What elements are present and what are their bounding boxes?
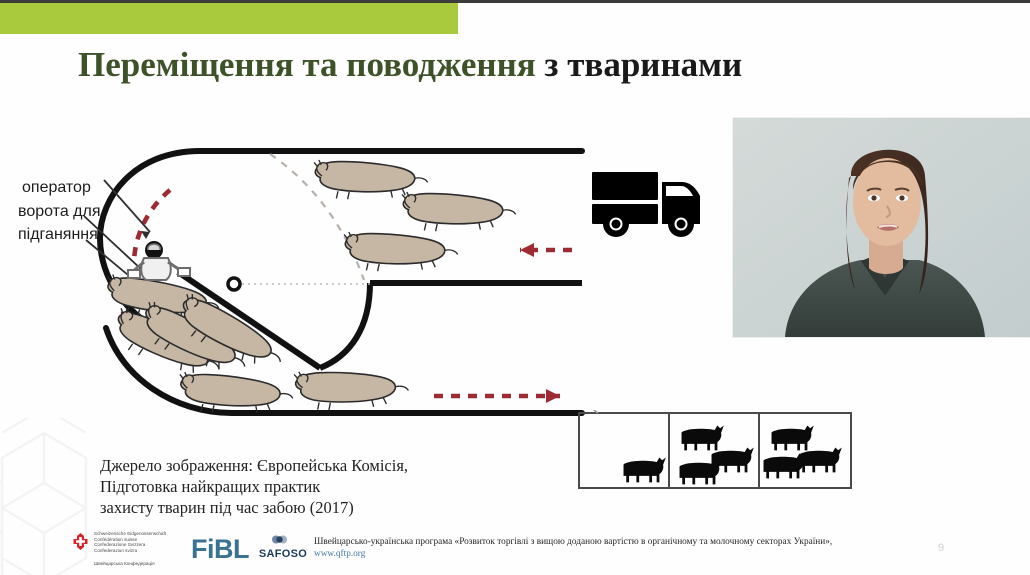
caption-line-3: захисту тварин під час забою (2017) bbox=[100, 497, 530, 518]
gate-pivot bbox=[228, 278, 240, 290]
swiss-text-ua: Швейцарська Конфедерація bbox=[94, 561, 155, 566]
operator-figure-icon bbox=[128, 241, 190, 280]
page-title-rest: з тваринами bbox=[536, 45, 742, 84]
pen-animal bbox=[624, 458, 666, 483]
slide-footer: Schweizerische Eidgenossenschaft Confédé… bbox=[0, 524, 1030, 575]
pen-animal bbox=[680, 460, 722, 485]
slide-canvas: Переміщення та поводження з тваринами оп… bbox=[0, 0, 1030, 575]
caption-line-1: Джерело зображення: Європейська Комісія, bbox=[100, 455, 530, 476]
swiss-text-de: Schweizerische Eidgenossenschaft bbox=[94, 531, 166, 537]
animal-silhouette bbox=[344, 232, 458, 271]
pen-animal bbox=[800, 448, 842, 473]
animal-silhouette bbox=[314, 160, 428, 199]
safoso-logo: SAFOSO bbox=[252, 534, 314, 566]
program-url[interactable]: www.qftp.org bbox=[314, 548, 914, 560]
presenter-video-frame bbox=[733, 118, 1030, 337]
page-title-highlight: Переміщення та поводження bbox=[78, 45, 536, 84]
fibl-logo: FiBL bbox=[191, 534, 249, 565]
swiss-text-rm: Confederaziun svizra bbox=[94, 548, 166, 554]
program-credit-text: Швейцарсько-українська програма «Розвито… bbox=[314, 537, 832, 547]
presenter-video[interactable] bbox=[733, 118, 1030, 337]
pen-animal bbox=[682, 426, 724, 451]
page-title: Переміщення та поводження з тваринами bbox=[78, 44, 978, 86]
cattle-race-diagram bbox=[82, 128, 602, 433]
swiss-logo-text: Schweizerische Eidgenossenschaft Confédé… bbox=[94, 531, 166, 553]
safoso-label: SAFOSO bbox=[252, 548, 314, 560]
truck-icon bbox=[586, 162, 716, 242]
swiss-confederation-logo: Schweizerische Eidgenossenschaft Confédé… bbox=[72, 530, 182, 572]
animal-silhouette bbox=[402, 192, 516, 231]
cattle-pens-icon bbox=[576, 410, 858, 502]
animal-silhouette bbox=[294, 368, 409, 411]
pen-animal bbox=[772, 426, 814, 451]
swiss-cross-icon bbox=[72, 533, 89, 550]
caption-line-2: Підготовка найкращих практик bbox=[100, 476, 530, 497]
callout-operator: оператор bbox=[22, 176, 91, 199]
page-number: 9 bbox=[938, 542, 944, 554]
program-credit: Швейцарсько-українська програма «Розвито… bbox=[314, 536, 914, 560]
accent-bar bbox=[0, 3, 458, 34]
pen-animal bbox=[764, 454, 806, 479]
safoso-emblem-icon bbox=[272, 534, 287, 545]
image-source-caption: Джерело зображення: Європейська Комісія,… bbox=[100, 455, 530, 518]
